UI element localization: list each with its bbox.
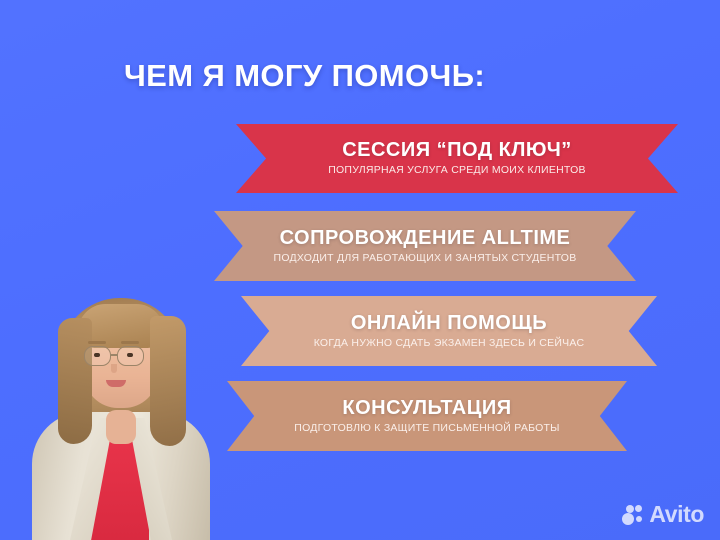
- ribbon-subtitle: ПОПУЛЯРНАЯ УСЛУГА СРЕДИ МОИХ КЛИЕНТОВ: [328, 165, 586, 177]
- service-ribbon-consultation[interactable]: КОНСУЛЬТАЦИЯ ПОДГОТОВЛЮ К ЗАЩИТЕ ПИСЬМЕН…: [227, 381, 627, 451]
- page-title: ЧЕМ Я МОГУ ПОМОЧЬ:: [124, 58, 485, 94]
- eyebrow-left: [88, 341, 106, 344]
- eye-right: [127, 353, 133, 357]
- neck: [106, 410, 136, 444]
- glasses-bridge: [111, 354, 117, 356]
- avito-wordmark: Avito: [649, 503, 704, 526]
- service-ribbon-online-help[interactable]: ОНЛАЙН ПОМОЩЬ КОГДА НУЖНО СДАТЬ ЭКЗАМЕН …: [241, 296, 657, 366]
- hair-strand-right: [150, 316, 186, 446]
- avito-watermark: Avito: [622, 503, 704, 526]
- ribbon-title: КОНСУЛЬТАЦИЯ: [342, 398, 511, 419]
- ribbon-title: СЕССИЯ “ПОД КЛЮЧ”: [342, 140, 572, 161]
- poster-canvas: ЧЕМ Я МОГУ ПОМОЧЬ: СЕССИЯ “ПОД КЛЮЧ” ПОП…: [0, 0, 720, 540]
- service-ribbon-session-turnkey[interactable]: СЕССИЯ “ПОД КЛЮЧ” ПОПУЛЯРНАЯ УСЛУГА СРЕД…: [236, 124, 678, 193]
- avito-dots-icon: [622, 504, 644, 526]
- eye-left: [94, 353, 100, 357]
- ribbon-subtitle: КОГДА НУЖНО СДАТЬ ЭКЗАМЕН ЗДЕСЬ И СЕЙЧАС: [314, 338, 585, 350]
- avito-dot-small-bottom: [636, 516, 642, 522]
- eyebrow-right: [121, 341, 139, 344]
- nose: [111, 364, 117, 373]
- hair-strand-left: [58, 318, 92, 444]
- ribbon-title: СОПРОВОЖДЕНИЕ ALLTIME: [280, 228, 571, 249]
- person-portrait: [28, 284, 214, 540]
- ribbon-title: ОНЛАЙН ПОМОЩЬ: [351, 313, 547, 334]
- avito-dot-small-top: [635, 505, 642, 512]
- avito-dot-large: [622, 513, 634, 525]
- avito-dot-medium: [626, 505, 634, 513]
- service-ribbon-alltime-support[interactable]: СОПРОВОЖДЕНИЕ ALLTIME ПОДХОДИТ ДЛЯ РАБОТ…: [214, 211, 636, 281]
- ribbon-subtitle: ПОДХОДИТ ДЛЯ РАБОТАЮЩИХ И ЗАНЯТЫХ СТУДЕН…: [274, 253, 577, 265]
- ribbon-subtitle: ПОДГОТОВЛЮ К ЗАЩИТЕ ПИСЬМЕННОЙ РАБОТЫ: [294, 423, 559, 435]
